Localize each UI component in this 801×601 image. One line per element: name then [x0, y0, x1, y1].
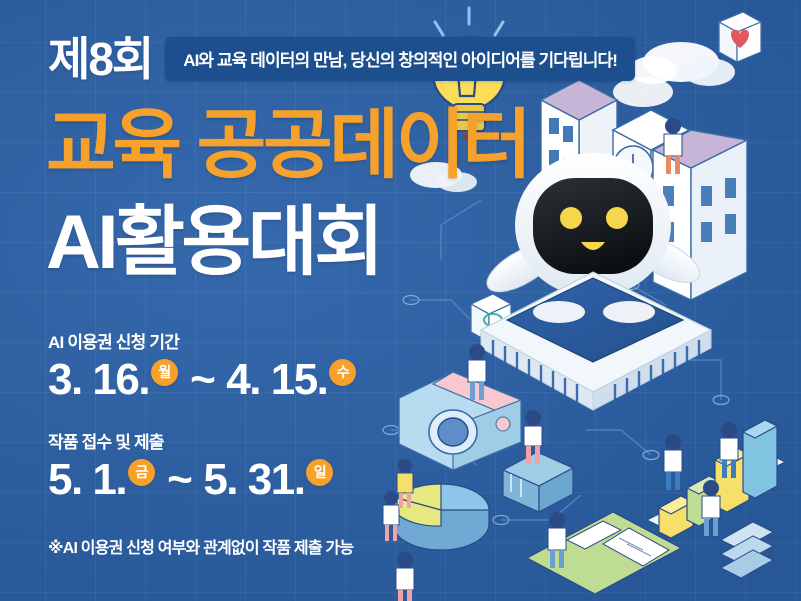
day-of-week-badge-start: 금: [128, 459, 155, 486]
schedule-end-date: 4. 15.: [226, 357, 327, 403]
day-of-week-badge-end: 일: [306, 459, 333, 486]
schedule-dates: 5. 1. 금 ~ 5. 31. 일: [48, 457, 333, 503]
schedule-label: AI 이용권 신청 기간: [48, 328, 356, 353]
schedule-block-application: AI 이용권 신청 기간 3. 16. 월 ~ 4. 15. 수: [48, 328, 356, 403]
poster-text-layer: 제8회 AI와 교육 데이터의 만남, 당신의 창의적인 아이디어를 기다립니다…: [0, 0, 801, 601]
date-range-separator: ~: [190, 357, 214, 403]
edition-row: 제8회 AI와 교육 데이터의 만남, 당신의 창의적인 아이디어를 기다립니다…: [48, 36, 635, 82]
page-title-line2: AI활용대회: [46, 205, 381, 281]
tagline-banner: AI와 교육 데이터의 만남, 당신의 창의적인 아이디어를 기다립니다!: [165, 37, 635, 81]
date-range-separator: ~: [167, 457, 191, 503]
edition-label: 제8회: [48, 36, 152, 82]
footnote-text: ※AI 이용권 신청 여부와 관계없이 작품 제출 가능: [48, 534, 353, 558]
day-of-week-badge-start: 월: [151, 359, 178, 386]
schedule-block-submission: 작품 접수 및 제출 5. 1. 금 ~ 5. 31. 일: [48, 428, 333, 503]
schedule-start-date: 3. 16.: [48, 357, 149, 403]
page-title-line1: 교육 공공데이터: [46, 108, 529, 184]
schedule-dates: 3. 16. 월 ~ 4. 15. 수: [48, 357, 356, 403]
schedule-end-date: 5. 31.: [203, 457, 304, 503]
schedule-label: 작품 접수 및 제출: [48, 428, 333, 453]
schedule-start-date: 5. 1.: [48, 457, 126, 503]
poster-canvas: 제8회 AI와 교육 데이터의 만남, 당신의 창의적인 아이디어를 기다립니다…: [0, 0, 801, 601]
day-of-week-badge-end: 수: [329, 359, 356, 386]
